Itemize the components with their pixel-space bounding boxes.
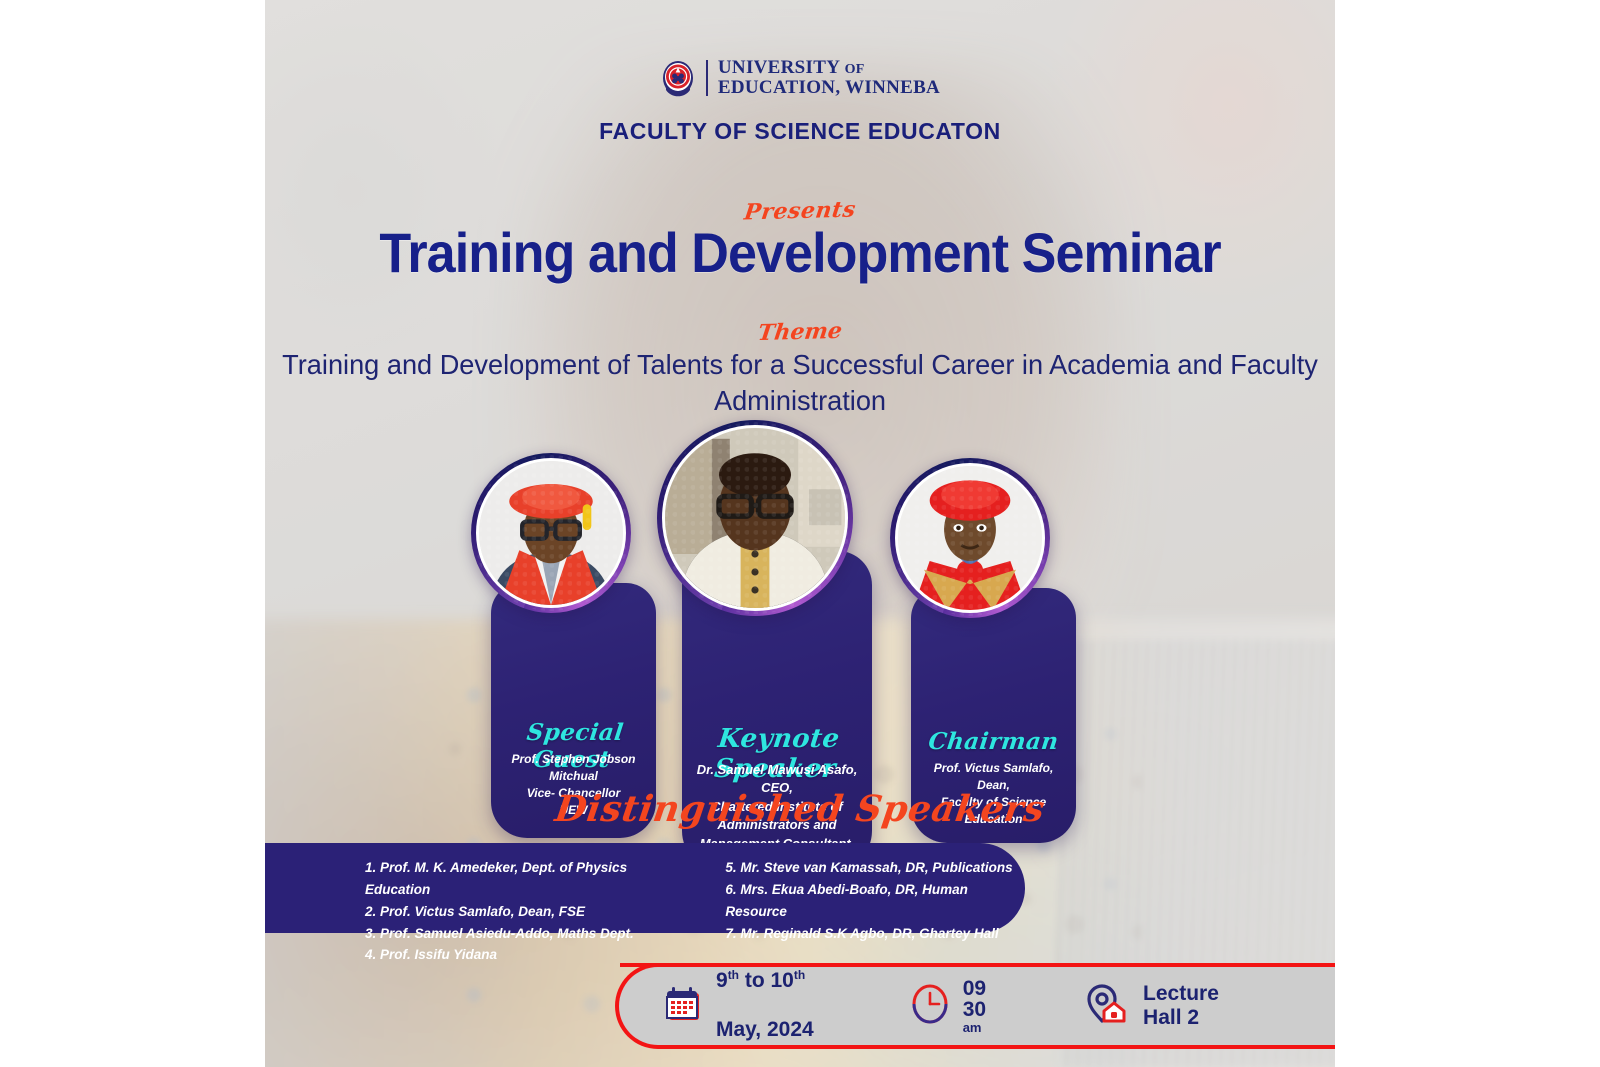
- poster-header: UNIVERSITY OF EDUCATION, WINNEBA FACULTY…: [265, 58, 1335, 145]
- university-line2: EDUCATION, WINNEBA: [718, 78, 940, 98]
- time-minute: 30: [963, 999, 986, 1020]
- uew-crest-icon: [660, 58, 696, 98]
- footer-venue: Lecture Hall 2: [1086, 982, 1219, 1031]
- distinguished-list-left: 1. Prof. M. K. Amedeker, Dept. of Physic…: [365, 857, 687, 933]
- venue-text: Lecture Hall 2: [1143, 982, 1219, 1031]
- date-sup-1: th: [728, 968, 739, 982]
- time-meridiem: am: [963, 1021, 986, 1034]
- footer-bar: 9th to 10th May, 2024 09 30 am: [265, 947, 1335, 1067]
- faculty-title: FACULTY OF SCIENCE EDUCATON: [265, 118, 1335, 145]
- clock-icon: [910, 983, 950, 1030]
- time-hour: 09: [963, 978, 986, 999]
- date-day-start: 9: [716, 969, 728, 992]
- avatar-special-guest: [471, 453, 631, 613]
- page-title: Training and Development Seminar: [302, 220, 1297, 285]
- portrait-image: [662, 425, 848, 611]
- date-month-year: May, 2024: [716, 1018, 814, 1042]
- university-of: OF: [845, 62, 865, 77]
- portrait-image: [895, 463, 1045, 613]
- speaker-cards: Special Guest Prof. Stephen Jobson Mitch…: [265, 408, 1335, 768]
- avatar-chairman: [890, 458, 1050, 618]
- time-text: 09 30 am: [963, 978, 986, 1034]
- date-sup-2: th: [794, 968, 805, 982]
- university-name: UNIVERSITY OF EDUCATION, WINNEBA: [718, 58, 940, 98]
- location-pin-home-icon: [1086, 983, 1130, 1030]
- date-text: 9th to 10th May, 2024: [716, 945, 814, 1067]
- portrait-image: [476, 458, 626, 608]
- footer-date: 9th to 10th May, 2024: [663, 945, 814, 1067]
- footer-time: 09 30 am: [910, 978, 986, 1034]
- poster-canvas: UNIVERSITY OF EDUCATION, WINNEBA FACULTY…: [265, 0, 1335, 1067]
- university-logo-row: UNIVERSITY OF EDUCATION, WINNEBA: [265, 58, 1335, 98]
- avatar-keynote-speaker: [657, 420, 853, 616]
- date-connector: to 10: [739, 969, 794, 992]
- calendar-icon: [663, 984, 703, 1029]
- distinguished-list-right: 5. Mr. Steve van Kamassah, DR, Publicati…: [725, 857, 1025, 933]
- title-block: Presents Training and Development Semina…: [265, 176, 1335, 419]
- distinguished-speakers-box: 1. Prof. M. K. Amedeker, Dept. of Physic…: [265, 843, 1025, 933]
- footer-info-bar: 9th to 10th May, 2024 09 30 am: [615, 963, 1335, 1049]
- university-line1: UNIVERSITY: [718, 57, 840, 78]
- logo-divider: [706, 60, 708, 96]
- role-label: Chairman: [909, 728, 1077, 755]
- distinguished-speakers-title: Distinguished Speakers: [265, 788, 1335, 830]
